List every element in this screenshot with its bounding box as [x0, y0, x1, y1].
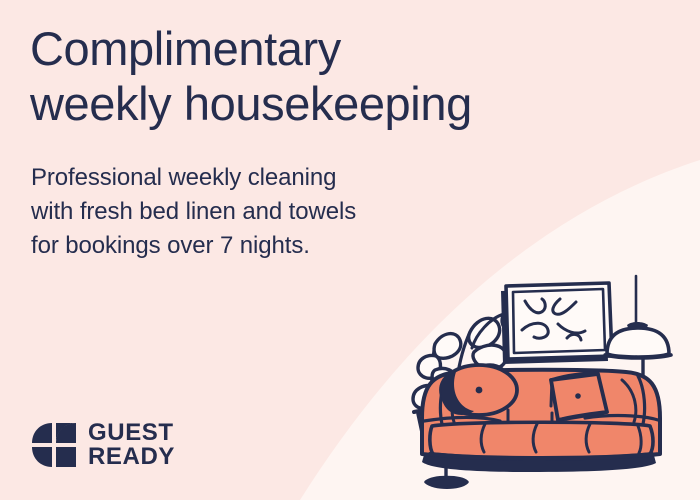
description-text: Professional weekly cleaning with fresh … — [31, 161, 461, 263]
logo-line-guest: GUEST — [88, 421, 175, 445]
promo-banner: Complimentary weekly housekeeping Profes… — [0, 0, 700, 500]
logo-line-ready: READY — [88, 445, 175, 469]
guestready-logo: GUEST READY — [31, 421, 175, 469]
guestready-quadrant-mark-icon — [31, 422, 77, 468]
logo-wordmark: GUEST READY — [88, 421, 175, 469]
page-title: Complimentary weekly housekeeping — [30, 22, 650, 131]
